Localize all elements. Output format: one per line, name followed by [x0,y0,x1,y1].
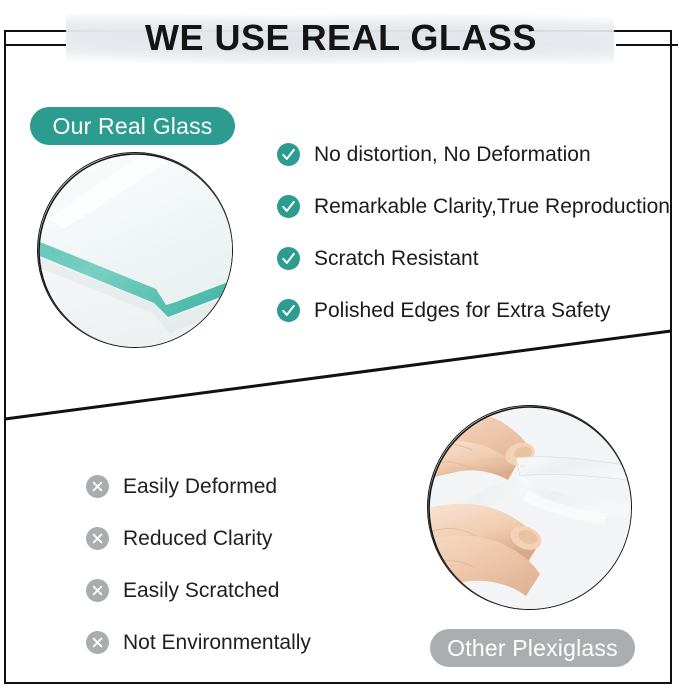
x-icon [86,475,109,498]
real-glass-photo [37,152,233,348]
x-icon [86,579,109,602]
badge-our-real-glass: Our Real Glass [30,107,235,145]
disadvantages-list: Easily Deformed Reduced Clarity Easily S… [86,460,311,668]
comparison-infographic: WE USE REAL GLASS Our Real Glass [0,0,679,691]
list-item-label: No distortion, No Deformation [314,144,591,165]
check-icon [277,195,300,218]
title-rule-left [4,44,66,46]
list-item-label: Remarkable Clarity,True Reproduction [314,196,670,217]
list-item-label: Easily Deformed [123,476,277,497]
list-item-label: Reduced Clarity [123,528,272,549]
list-item: Scratch Resistant [277,232,670,284]
list-item-label: Polished Edges for Extra Safety [314,300,611,321]
plexiglass-photo [427,405,632,610]
badge-other-plexiglass-label: Other Plexiglass [447,635,618,662]
badge-our-real-glass-label: Our Real Glass [52,113,212,140]
plexiglass-illustration [428,406,632,610]
check-icon [277,143,300,166]
title-text: WE USE REAL GLASS [145,20,537,56]
list-item: No distortion, No Deformation [277,128,670,180]
list-item: Reduced Clarity [86,512,311,564]
list-item: Remarkable Clarity,True Reproduction [277,180,670,232]
advantages-list: No distortion, No Deformation Remarkable… [277,128,670,336]
list-item: Easily Scratched [86,564,311,616]
title-rule-right [616,44,678,46]
badge-other-plexiglass: Other Plexiglass [430,629,635,667]
x-icon [86,631,109,654]
list-item-label: Easily Scratched [123,580,279,601]
list-item: Easily Deformed [86,460,311,512]
check-icon [277,299,300,322]
check-icon [277,247,300,270]
list-item-label: Not Environmentally [123,632,311,653]
page-title: WE USE REAL GLASS [52,8,630,68]
x-icon [86,527,109,550]
list-item-label: Scratch Resistant [314,248,479,269]
real-glass-illustration [38,153,233,348]
list-item: Not Environmentally [86,616,311,668]
list-item: Polished Edges for Extra Safety [277,284,670,336]
